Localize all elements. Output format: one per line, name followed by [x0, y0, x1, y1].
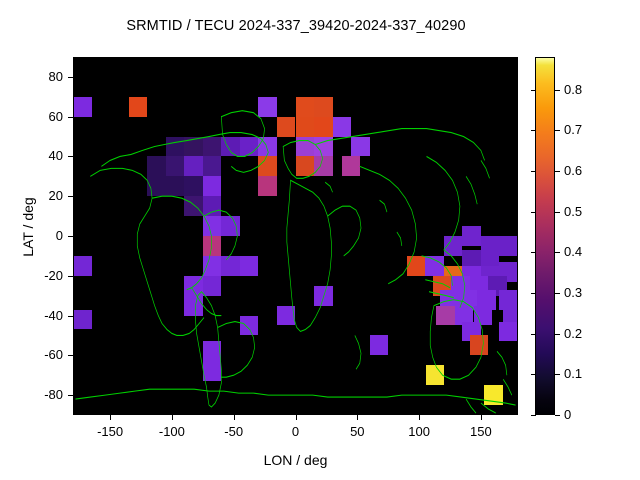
colorbar-tick-inner: [531, 130, 536, 131]
colorbar-tick: [555, 171, 560, 172]
y-axis-tick: [68, 355, 73, 356]
y-axis-tick-label: 60: [17, 109, 63, 124]
colorbar-tick: [555, 252, 560, 253]
colorbar-tick-label: 0: [564, 407, 571, 422]
colorbar-tick-label: 0.7: [564, 122, 582, 137]
chart-title: SRMTID / TECU 2024-337_39420-2024-337_40…: [0, 18, 592, 34]
x-axis-tick-label: -150: [80, 424, 140, 439]
y-axis-tick: [68, 276, 73, 277]
colorbar-tick: [555, 130, 560, 131]
y-axis-tick: [68, 236, 73, 237]
x-axis-tick-label: -50: [204, 424, 264, 439]
y-axis-tick: [68, 117, 73, 118]
colorbar-tick-inner: [531, 293, 536, 294]
x-axis-tick-label: 50: [327, 424, 387, 439]
y-axis-tick: [68, 395, 73, 396]
y-axis-tick: [68, 77, 73, 78]
x-axis-tick: [234, 415, 235, 420]
x-axis-tick: [110, 415, 111, 420]
colorbar-tick: [555, 415, 560, 416]
y-axis-tick: [68, 316, 73, 317]
colorbar[interactable]: [535, 57, 555, 415]
colorbar-tick: [555, 90, 560, 91]
colorbar-tick-inner: [531, 171, 536, 172]
colorbar-tick-label: 0.8: [564, 82, 582, 97]
x-axis-tick: [419, 415, 420, 420]
x-axis-tick: [172, 415, 173, 420]
y-axis-tick: [68, 156, 73, 157]
colorbar-tick-inner: [531, 90, 536, 91]
y-axis-tick-label: -80: [17, 387, 63, 402]
y-axis-label: LAT / deg: [20, 147, 36, 307]
x-axis-tick: [481, 415, 482, 420]
colorbar-tick-inner: [531, 252, 536, 253]
y-axis-tick: [68, 196, 73, 197]
colorbar-tick-label: 0.1: [564, 366, 582, 381]
x-axis-tick-label: -100: [142, 424, 202, 439]
colorbar-tick-inner: [531, 415, 536, 416]
colorbar-tick: [555, 293, 560, 294]
colorbar-tick-label: 0.2: [564, 326, 582, 341]
coastline-overlay: [73, 57, 518, 415]
colorbar-tick: [555, 212, 560, 213]
colorbar-tick-label: 0.5: [564, 204, 582, 219]
map-plot-area[interactable]: [73, 57, 518, 415]
y-axis-tick-label: 80: [17, 69, 63, 84]
figure-root: SRMTID / TECU 2024-337_39420-2024-337_40…: [0, 0, 640, 480]
x-axis-tick-label: 100: [389, 424, 449, 439]
x-axis-tick: [357, 415, 358, 420]
colorbar-tick-inner: [531, 212, 536, 213]
x-axis-tick-label: 150: [451, 424, 511, 439]
colorbar-tick-inner: [531, 334, 536, 335]
colorbar-tick-label: 0.4: [564, 244, 582, 259]
colorbar-tick: [555, 374, 560, 375]
x-axis-tick-label: 0: [266, 424, 326, 439]
x-axis-tick: [296, 415, 297, 420]
x-axis-label: LON / deg: [73, 452, 518, 468]
y-axis-tick-label: -40: [17, 308, 63, 323]
y-axis-tick-label: -60: [17, 347, 63, 362]
colorbar-tick-inner: [531, 374, 536, 375]
colorbar-tick: [555, 334, 560, 335]
colorbar-tick-label: 0.3: [564, 285, 582, 300]
colorbar-tick-label: 0.6: [564, 163, 582, 178]
